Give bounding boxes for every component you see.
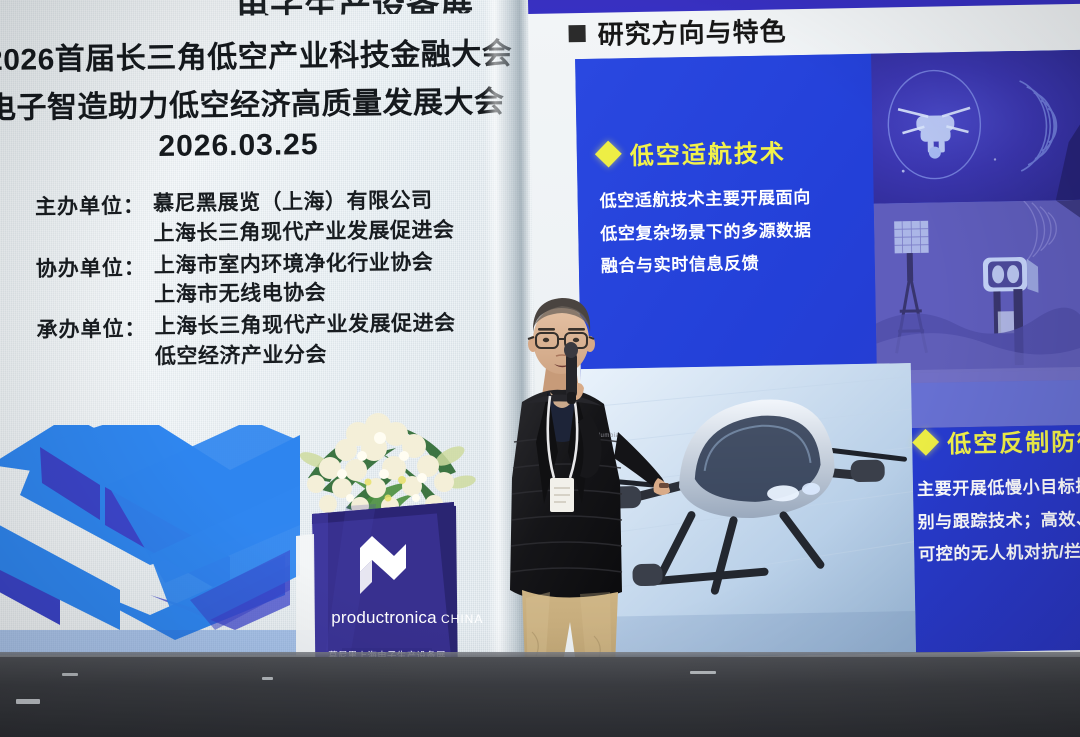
organizer-list: 主办单位： 慕尼黑展览（上海）有限公司 上海长三角现代产业发展促进会 协办单位：…	[35, 185, 507, 376]
slide-section-2-body: 主要开展低慢小目标探测、 别与跟踪技术；高效、精准 可控的无人机对抗/拦截技术	[917, 470, 1080, 572]
organizer-values: 慕尼黑展览（上海）有限公司 上海长三角现代产业发展促进会	[153, 185, 506, 249]
lectern-wordmark: productronica CHINA	[331, 608, 483, 627]
slide-section-1-body: 低空适航技术主要开展面向 低空复杂场景下的多源数据 融合与实时信息反馈	[599, 182, 812, 284]
organizer-values: 上海市室内环境净化行业协会 上海市无线电协会	[154, 247, 507, 311]
stage-floor	[0, 657, 1080, 737]
organizer-value: 上海长三角现代产业发展促进会	[154, 308, 506, 342]
organizer-row: 承办单位： 上海长三角现代产业发展促进会 低空经济产业分会	[36, 308, 507, 373]
slide-text-line: 低空适航技术主要开展面向	[599, 182, 811, 218]
slide-text-line: 融合与实时信息反馈	[601, 247, 813, 283]
slide-heading-row: 研究方向与特色	[568, 11, 787, 52]
organizer-value: 上海长三角现代产业发展促进会	[153, 215, 505, 249]
diamond-bullet-icon	[595, 141, 622, 168]
floor-marking	[62, 673, 78, 676]
floor-marking	[262, 677, 273, 680]
organizer-row: 协办单位： 上海市室内环境净化行业协会 上海市无线电协会	[36, 247, 507, 312]
diamond-bullet-icon	[912, 429, 939, 456]
organizer-value: 慕尼黑展览（上海）有限公司	[153, 185, 505, 219]
organizer-value: 上海市无线电协会	[154, 277, 506, 311]
slide-section-1-header: 低空适航技术	[599, 133, 811, 172]
presenter-head	[528, 298, 595, 374]
organizer-row: 主办单位： 慕尼黑展览（上海）有限公司 上海长三角现代产业发展促进会	[35, 185, 506, 250]
organizer-value: 上海市室内环境净化行业协会	[154, 247, 506, 281]
slide-section-2-header: 低空反制防御	[916, 421, 1080, 460]
slide-top-banner-text: 造，低空	[817, 0, 978, 3]
slide-text-line: 别与跟踪技术；高效、精准	[917, 503, 1080, 540]
organizer-values: 上海长三角现代产业发展促进会 低空经济产业分会	[154, 308, 507, 372]
square-bullet-icon	[568, 25, 585, 42]
drone-image	[871, 50, 1080, 204]
slide-section-1-title: 低空适航技术	[630, 133, 787, 171]
svg-text:productronica: productronica	[331, 608, 437, 627]
slide-text-line: 主要开展低慢小目标探测、	[917, 470, 1080, 507]
organizer-value: 低空经济产业分会	[155, 338, 507, 372]
slide-text-line: 可控的无人机对抗/拦截技术	[918, 535, 1080, 572]
organizer-label: 主办单位：	[35, 189, 153, 220]
slide-section-2-title: 低空反制防御	[947, 422, 1080, 460]
event-title-line-1: 2026首届长三角低空产业科技金融大会	[0, 29, 491, 79]
organizer-label: 承办单位：	[36, 313, 154, 344]
floor-marking	[690, 671, 716, 674]
floor-marking	[16, 699, 40, 704]
slide-section-1: 低空适航技术 低空适航技术主要开展面向 低空复杂场景下的多源数据 融合与实时信息…	[599, 133, 813, 284]
organizer-label: 协办单位：	[36, 251, 154, 282]
slide-top-banner: 造，低空	[528, 0, 1080, 14]
event-title-line-2: 电子智造助力低空经济高质量发展大会	[0, 77, 491, 127]
conference-stage-photo: 电子生产设备展 2026首届长三角低空产业科技金融大会 电子智造助力低空经济高质…	[0, 0, 1080, 737]
slide-section-2: 低空反制防御 主要开展低慢小目标探测、 别与跟踪技术；高效、精准 可控的无人机对…	[916, 421, 1080, 572]
presenter-pointing-arm	[614, 432, 670, 495]
slide-heading: 研究方向与特色	[597, 11, 787, 51]
event-date: 2026.03.25	[0, 126, 491, 166]
slide-text-line: 低空复杂场景下的多源数据	[600, 214, 812, 250]
